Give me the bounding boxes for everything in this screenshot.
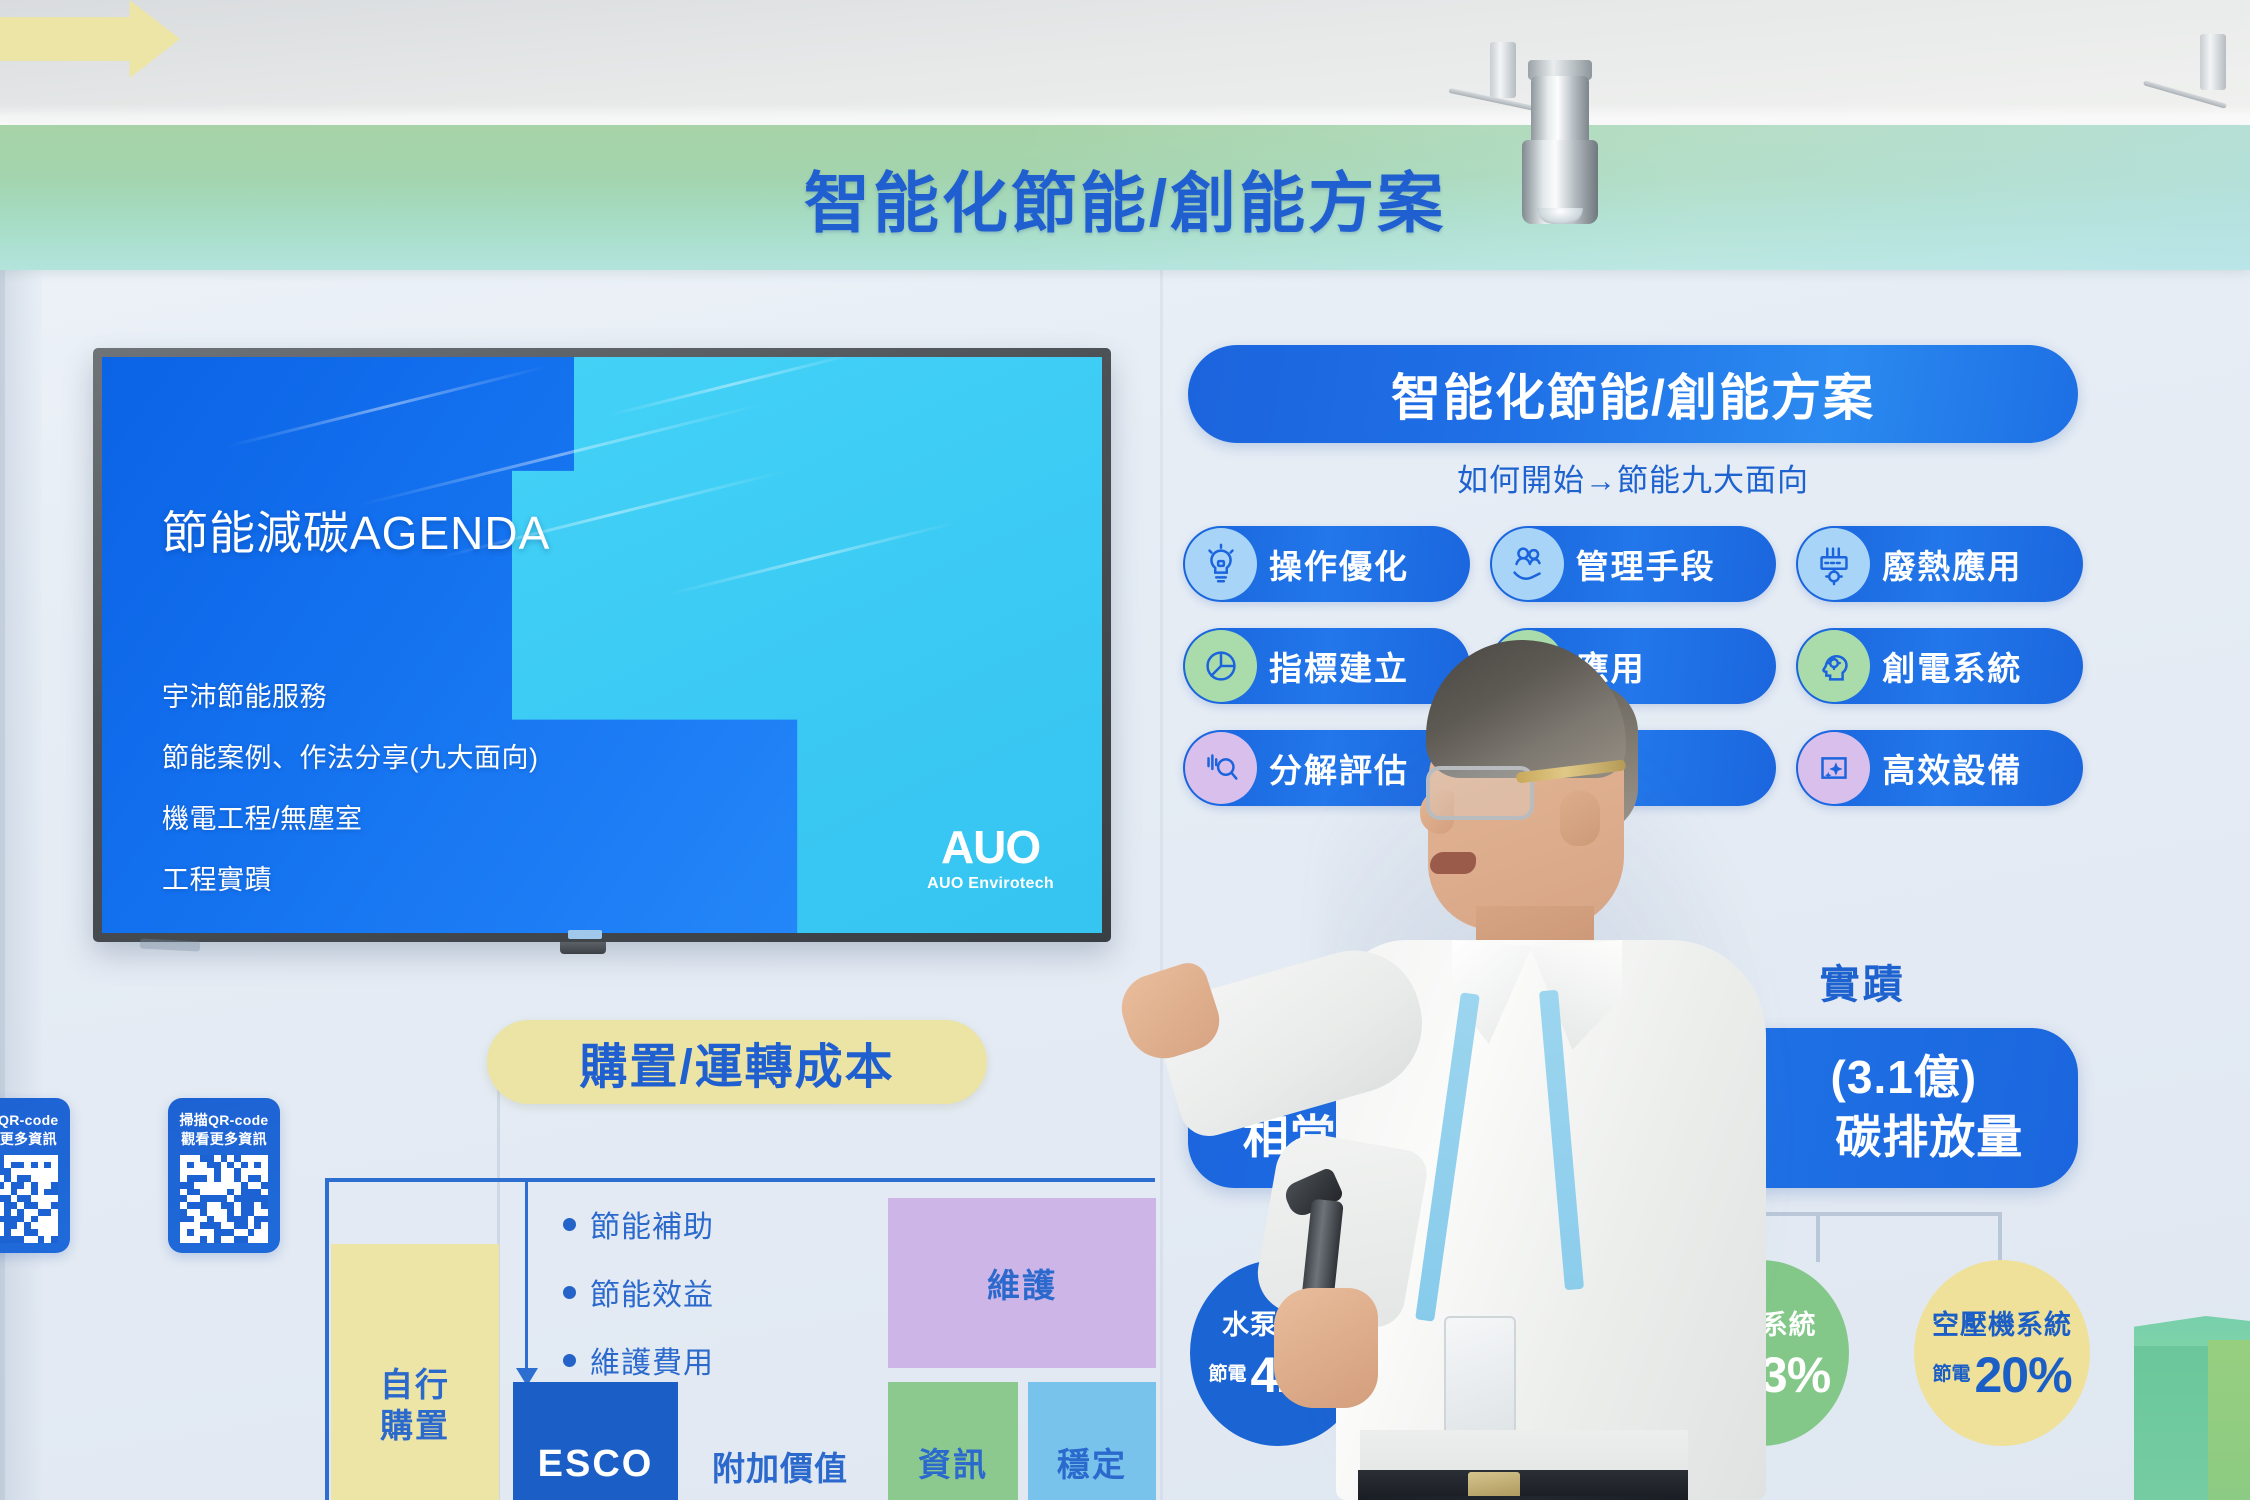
stat-circle-air-compressor: 空壓機系統 節電 20% <box>1914 1260 2090 1446</box>
aspect-pill-operation-optimization[interactable]: 操作優化 <box>1183 526 1470 602</box>
tv-stand-neck <box>560 942 606 954</box>
bullet-text: 節能補助 <box>590 1202 714 1246</box>
cost-block-self-purchase: 自行 購置 <box>331 1244 499 1500</box>
tv-slide-agenda-list: 宇沛節能服務 節能案例、作法分享(九大面向) 機電工程/無塵室 工程實蹟 <box>162 675 538 897</box>
aspect-pill-waste-heat[interactable]: 廢熱應用 <box>1796 526 2083 602</box>
cost-block-information: 資訊 <box>888 1382 1018 1500</box>
poster-header-text: 智能化節能/創能方案 <box>1391 358 1875 430</box>
stat-unit: 節電 <box>1932 1365 1970 1385</box>
light-track-clip <box>1490 42 1516 98</box>
cost-block-label: 資訊 <box>918 1438 988 1486</box>
auo-logo: AUO AUO Envirotech <box>927 824 1054 893</box>
result-line-2-tail: 碳排放量 <box>1835 1111 2023 1163</box>
stat-value: 20% <box>1974 1346 2071 1404</box>
factory-gear-icon <box>1798 528 1870 600</box>
stat-name: 空壓機系統 <box>1932 1303 2072 1342</box>
aspect-pill-label: 創電系統 <box>1882 642 2022 690</box>
qr-caption-line1: 掃描QR-code <box>0 1111 59 1130</box>
aspect-pill-label: 管理手段 <box>1576 540 1716 588</box>
aspect-pill-label: 操作優化 <box>1269 540 1409 588</box>
qr-code-image <box>180 1155 268 1243</box>
display-podium <box>2134 1316 2250 1500</box>
presenter-mouth <box>1430 852 1476 874</box>
result-line-1-tail: (3.1億) <box>1831 1051 1978 1103</box>
cost-chart-arrow-shaft <box>525 1178 528 1376</box>
qr-code-image <box>0 1155 58 1243</box>
presenter-id-badge <box>1444 1316 1516 1436</box>
cost-chart-axis-left <box>325 1178 329 1500</box>
cost-block-label: 自行 購置 <box>380 1364 450 1487</box>
aspect-pill-label: 高效設備 <box>1882 744 2022 792</box>
wall-left-fold <box>0 128 42 1500</box>
cost-chart-axis-top <box>325 1178 1155 1182</box>
people-hand-icon <box>1492 528 1564 600</box>
qr-caption-line1: 掃描QR-code <box>179 1111 268 1130</box>
cost-block-maintenance: 維護 <box>888 1198 1156 1368</box>
presenter-person <box>1230 640 1850 1500</box>
list-item: 節能案例、作法分享(九大面向) <box>162 736 538 775</box>
bullet-dot-icon <box>563 1354 576 1367</box>
cost-block-label: 穩定 <box>1057 1438 1127 1486</box>
qr-panel-right[interactable]: 掃描QR-code 觀看更多資訊 <box>168 1098 280 1253</box>
tv-slide-title: 節能減碳AGENDA <box>162 497 550 563</box>
list-item: 機電工程/無塵室 <box>162 797 538 836</box>
list-item: 節能效益 <box>563 1270 714 1314</box>
qr-caption-line2: 觀看更多資訊 <box>181 1130 267 1149</box>
aspect-pill-management[interactable]: 管理手段 <box>1490 526 1777 602</box>
wall-seam <box>0 128 5 1500</box>
qr-panel-left[interactable]: 掃描QR-code 觀看更多資訊 <box>0 1098 70 1253</box>
cost-panel-title-pill: 購置/運轉成本 <box>487 1020 987 1104</box>
cost-block-esco: ESCO <box>513 1382 678 1500</box>
poster-subtitle: 如何開始→節能九大面向 <box>1188 455 2078 500</box>
bullet-dot-icon <box>563 1286 576 1299</box>
bullet-text: 維護費用 <box>590 1338 714 1382</box>
presenter-hand-holding-mic <box>1274 1288 1378 1408</box>
venue-banner-title: 智能化節能/創能方案 <box>0 125 2250 270</box>
display-tv: 節能減碳AGENDA 宇沛節能服務 節能案例、作法分享(九大面向) 機電工程/無… <box>93 348 1111 942</box>
cost-block-label: 附加價值 <box>690 1442 870 1490</box>
list-item: 維護費用 <box>563 1338 714 1382</box>
presenter-ear <box>1560 790 1600 846</box>
tv-light-streak <box>227 365 548 448</box>
cost-block-stability: 穩定 <box>1028 1382 1156 1500</box>
presenter-hair <box>1426 640 1626 778</box>
cost-benefit-bullets: 節能補助 節能效益 維護費用 <box>563 1202 714 1382</box>
cost-panel-title: 購置/運轉成本 <box>579 1027 894 1097</box>
poster-header: 智能化節能/創能方案 <box>1188 345 2078 443</box>
list-item: 宇沛節能服務 <box>162 675 538 714</box>
qr-caption-line2: 觀看更多資訊 <box>0 1130 57 1149</box>
lightbulb-icon <box>1185 528 1257 600</box>
presenter-trousers <box>1358 1496 1688 1500</box>
tv-brand-badge <box>568 930 602 939</box>
wall-seam <box>1160 232 1163 1500</box>
list-item: 節能補助 <box>563 1202 714 1246</box>
cost-block-label: ESCO <box>538 1443 654 1486</box>
podium-side-face <box>2208 1340 2250 1500</box>
bullet-text: 節能效益 <box>590 1270 714 1314</box>
tv-screen: 節能減碳AGENDA 宇沛節能服務 節能案例、作法分享(九大面向) 機電工程/無… <box>102 357 1102 933</box>
cost-block-label: 維護 <box>987 1259 1057 1307</box>
auo-logo-wordmark: AUO <box>927 824 1054 870</box>
podium-front-face <box>2134 1346 2208 1500</box>
aspect-pill-label: 廢熱應用 <box>1882 540 2022 588</box>
bullet-dot-icon <box>563 1218 576 1231</box>
list-item: 工程實蹟 <box>162 858 538 897</box>
exhibition-booth-scene: 智能化節能/創能方案 節能減碳AGENDA 宇沛節能服務 節能案例、作法分享(九… <box>0 0 2250 1500</box>
auo-logo-subtitle: AUO Envirotech <box>927 875 1054 893</box>
light-track-clip <box>2200 34 2226 90</box>
